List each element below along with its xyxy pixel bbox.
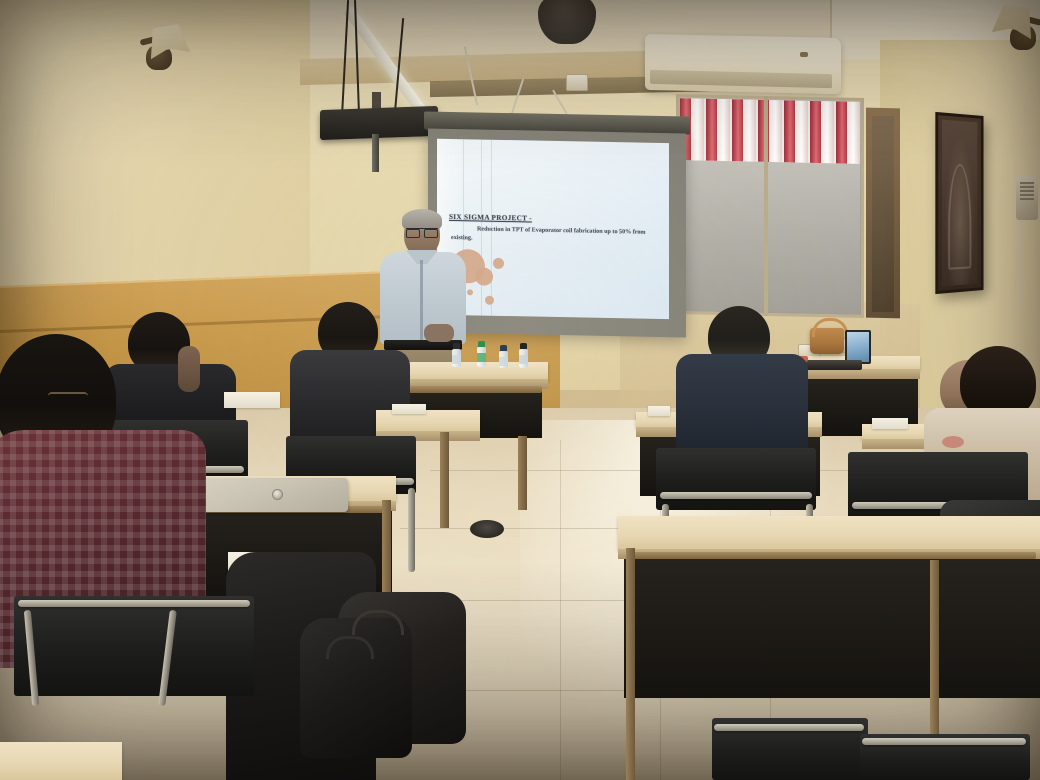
desk-top [0,742,122,780]
blind-slat [836,101,847,163]
desk-top [618,516,1040,550]
slide-decor-circle [485,296,494,305]
blind-slat [810,101,821,163]
presenter-hands [424,324,454,342]
blind-slat [823,101,834,163]
chair-back [656,448,816,510]
student-right-navy [668,306,818,456]
desk-leg [440,432,449,528]
student-torso [676,354,808,458]
open-laptop-screen[interactable] [845,330,871,364]
framed-picture [935,112,983,294]
papers [648,406,670,416]
bottle-label [519,355,528,364]
chair[interactable] [860,734,1030,780]
chair[interactable] [712,718,868,780]
student-top-pattern [942,436,964,448]
front-table-leg [518,436,527,510]
classroom-photo: SIX SIGMA PROJECT - Reduction in TPT of … [0,0,1040,780]
wall-socket[interactable] [566,74,588,91]
front-table-rail [404,386,542,393]
foreground-desk [0,742,122,780]
chair-leg [408,488,415,572]
papers [872,418,908,429]
papers [392,404,426,414]
water-bottle[interactable] [452,343,461,367]
chair-back [14,596,254,696]
picture-arch-motif [948,163,971,270]
laptop-logo-icon [272,489,283,500]
wall-sconce-lamp-left [140,26,190,72]
student-glasses-icon [48,392,88,408]
intercom-cable [1020,220,1022,310]
window-frosted-glass [680,160,860,314]
tile-grout-line [560,440,561,780]
vertical-blinds[interactable] [680,98,860,164]
slide-body-text: Reduction in TPT of Evaporator coil fabr… [451,225,649,247]
blind-slat [732,99,743,161]
water-bottle[interactable] [477,341,486,367]
doorway-interior [872,116,894,312]
presenter-glasses-icon [406,228,438,236]
water-bottle[interactable] [499,345,508,368]
ceiling-projector [320,106,438,140]
blind-slat [706,99,717,161]
blind-slat [771,100,782,162]
intercom-speaker-grill-icon [1020,182,1034,200]
wall-sconce-lamp-right [992,6,1040,52]
front-right-desk-body [624,558,1040,698]
front-right-desk [618,516,1040,550]
window-mullion [764,96,768,316]
desk-rail [628,552,1036,559]
chair[interactable] [656,448,816,510]
bottle-label [477,353,486,362]
chair-rail [714,724,864,731]
chair-rail [18,600,250,607]
projector-pole [372,134,379,172]
chair[interactable] [14,596,254,696]
desk-leg [626,548,635,780]
ac-indicator-light [800,52,808,57]
blind-slat [784,100,795,162]
chair-caster [470,520,504,538]
slide-decor-circle [493,258,504,269]
blind-slat [797,101,808,163]
chair-rail [862,738,1026,745]
fluorescent-tube-light-icon [352,6,470,122]
chair-rail [660,492,812,499]
blind-slat [745,99,756,161]
bottle-label [452,355,461,364]
bottle-label [499,357,508,366]
blind-slat [849,102,860,164]
blind-slat [719,99,730,161]
presenter-shirt-placket [420,260,423,340]
water-bottle[interactable] [519,343,528,368]
desk-leg [382,500,391,592]
blind-slat [693,98,704,160]
picture-artwork [942,120,977,287]
